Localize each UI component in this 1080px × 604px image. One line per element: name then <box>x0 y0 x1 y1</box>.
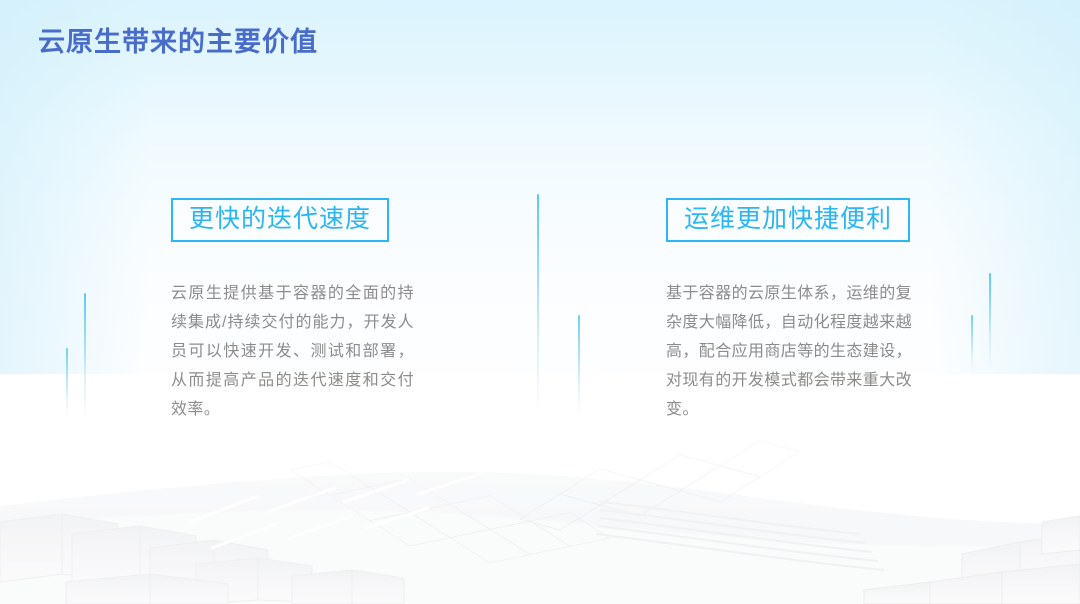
column-2-body: 基于容器的云原生体系，运维的复杂度大幅降低，自动化程度越来越高，配合应用商店等的… <box>666 279 912 424</box>
decor-rule-left-inner <box>84 293 86 418</box>
column-1-heading-box: 更快的迭代速度 <box>171 198 389 242</box>
column-2-heading: 运维更加快捷便利 <box>684 204 892 234</box>
value-column-1: 更快的迭代速度 云原生提供基于容器的全面的持续集成/持续交付的能力，开发人员可以… <box>171 198 414 424</box>
background-tint-left <box>0 0 150 604</box>
decorative-3d-landscape <box>0 374 1080 604</box>
column-1-body: 云原生提供基于容器的全面的持续集成/持续交付的能力，开发人员可以快速开发、测试和… <box>171 279 414 424</box>
column-2-heading-box: 运维更加快捷便利 <box>666 198 910 242</box>
decor-rule-left-outer <box>66 348 68 418</box>
decor-rule-right-short <box>971 315 973 373</box>
decor-rule-right-tall <box>989 273 991 371</box>
decor-rule-middle-short <box>578 315 580 416</box>
column-1-heading: 更快的迭代速度 <box>189 204 371 234</box>
value-column-2: 运维更加快捷便利 基于容器的云原生体系，运维的复杂度大幅降低，自动化程度越来越高… <box>666 198 912 424</box>
slide-canvas: 云原生带来的主要价值 更快的迭代速度 云原生提供基于容器的全面的持续集成/持续交… <box>0 0 1080 604</box>
page-title: 云原生带来的主要价值 <box>38 20 318 59</box>
decor-rule-middle-tall <box>537 194 539 416</box>
background-tint-right <box>930 0 1080 604</box>
